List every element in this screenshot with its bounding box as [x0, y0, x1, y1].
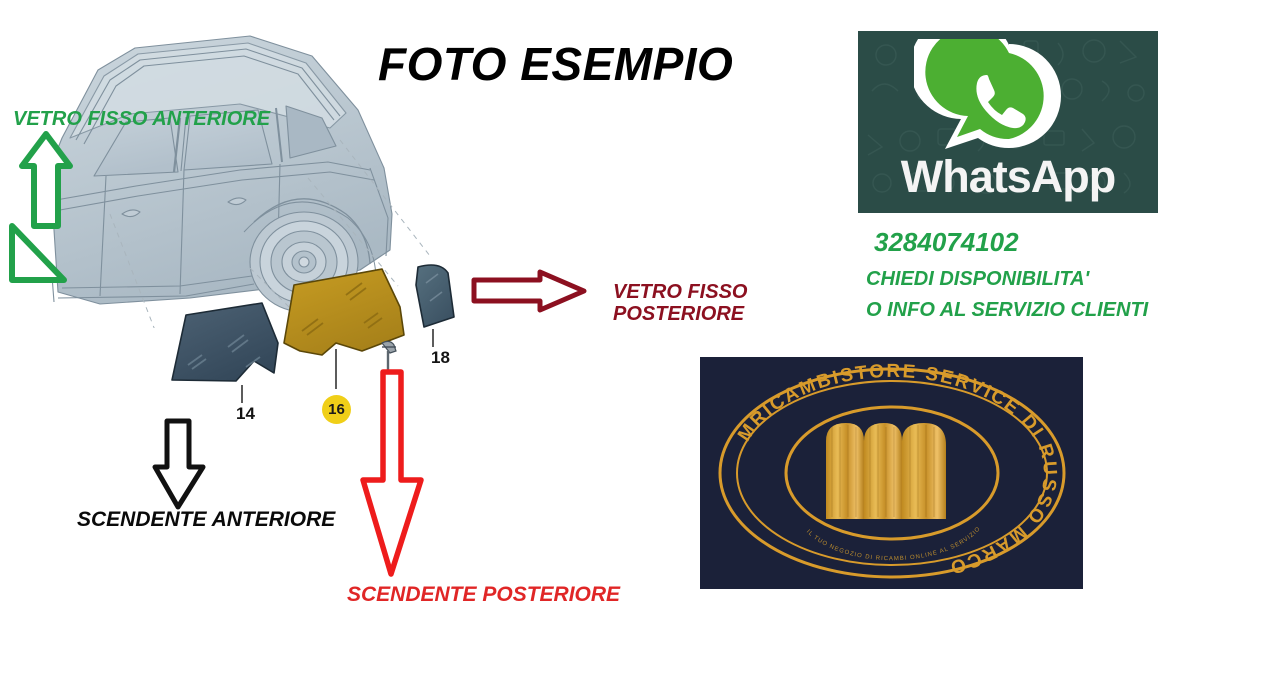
exploded-glass-parts: [150, 255, 490, 415]
arrow-triangle-green: [4, 222, 74, 290]
label-vetro-fisso-posteriore-line2: POSTERIORE: [613, 303, 747, 325]
arrow-right-darkred: [470, 268, 590, 316]
whatsapp-banner: WhatsApp: [858, 31, 1158, 213]
label-vetro-fisso-posteriore: VETRO FISSO POSTERIORE: [613, 281, 747, 326]
shop-logo-monogram: [826, 423, 946, 519]
shop-logo: MRICAMBISTORE SERVICE DI RUSSO MARCO IL …: [700, 357, 1083, 589]
page-title: FOTO ESEMPIO: [378, 37, 733, 91]
whatsapp-line-2: O INFO AL SERVIZIO CLIENTI: [866, 299, 1148, 322]
whatsapp-logo-icon: [914, 39, 1104, 159]
whatsapp-line-1: CHIEDI DISPONIBILITA': [866, 268, 1089, 291]
part-number-badge-16: 16: [322, 395, 351, 424]
label-vetro-fisso-posteriore-line1: VETRO FISSO: [613, 281, 747, 303]
arrow-down-black: [145, 415, 235, 515]
whatsapp-wordmark: WhatsApp: [858, 151, 1158, 203]
arrow-down-red: [355, 368, 435, 580]
part-number-18: 18: [431, 348, 450, 368]
label-scendente-posteriore: SCENDENTE POSTERIORE: [347, 583, 620, 607]
whatsapp-phone-number[interactable]: 3284074102: [874, 227, 1019, 258]
label-scendente-anteriore: SCENDENTE ANTERIORE: [77, 508, 335, 532]
part-number-14: 14: [236, 404, 255, 424]
label-vetro-fisso-anteriore: VETRO FISSO ANTERIORE: [13, 108, 270, 130]
screenshot-root: 14 16 17 18 VETRO FISSO ANTERIORE SCENDE…: [0, 0, 1264, 678]
